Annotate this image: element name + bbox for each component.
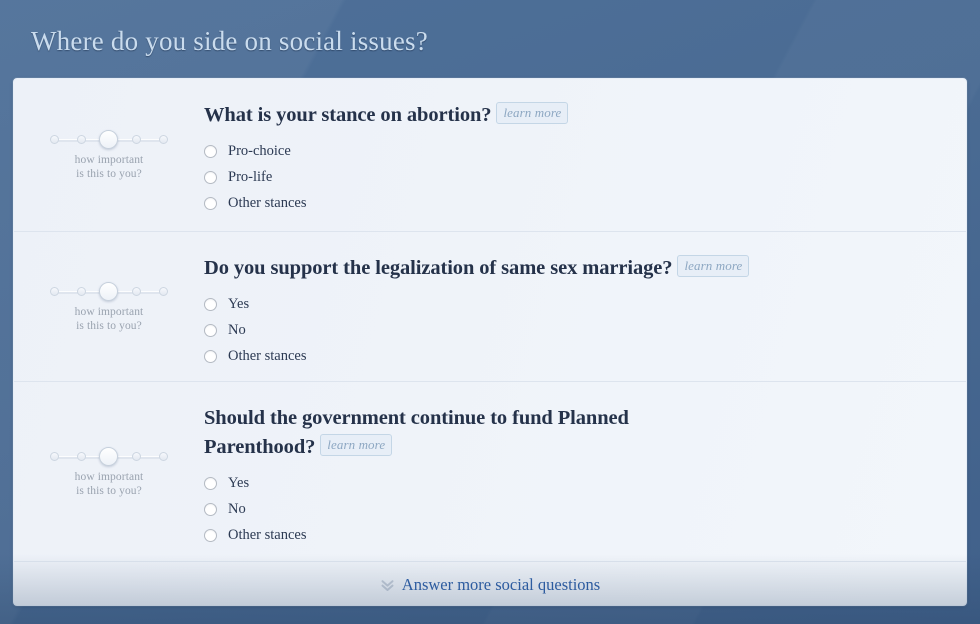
learn-more-badge[interactable]: learn more [320, 434, 392, 456]
choice-label: Pro-choice [228, 142, 291, 160]
importance-label: how important is this to you? [14, 153, 204, 181]
choice-label: Pro-life [228, 168, 272, 186]
question-title: Should the government continue to fund P… [204, 404, 734, 462]
choice-option[interactable]: Other stances [204, 190, 936, 216]
importance-label-line2: is this to you? [14, 484, 204, 498]
slider-step-5[interactable] [159, 452, 168, 461]
choice-label: No [228, 321, 246, 339]
importance-slider-group: how important is this to you? [14, 446, 204, 498]
page-background: Where do you side on social issues? how … [0, 0, 980, 624]
choice-option[interactable]: Other stances [204, 522, 936, 548]
radio-icon[interactable] [204, 503, 217, 516]
radio-icon[interactable] [204, 171, 217, 184]
importance-label-line2: is this to you? [14, 319, 204, 333]
double-chevron-down-icon [380, 578, 395, 593]
importance-label: how important is this to you? [14, 470, 204, 498]
radio-icon[interactable] [204, 197, 217, 210]
choice-list: Yes No Other stances [204, 291, 936, 369]
choice-option[interactable]: No [204, 496, 936, 522]
importance-label-line1: how important [14, 305, 204, 319]
choice-label: Yes [228, 295, 249, 313]
importance-slider[interactable] [50, 448, 168, 466]
choice-option[interactable]: Yes [204, 470, 936, 496]
question-title: What is your stance on abortion?learn mo… [204, 101, 936, 130]
question-content: Should the government continue to fund P… [204, 382, 966, 548]
page-title: Where do you side on social issues? [31, 22, 428, 60]
importance-label-line1: how important [14, 470, 204, 484]
importance-label-line2: is this to you? [14, 167, 204, 181]
slider-step-4[interactable] [132, 135, 141, 144]
choice-option[interactable]: Yes [204, 291, 936, 317]
slider-step-4[interactable] [132, 287, 141, 296]
choice-option[interactable]: No [204, 317, 936, 343]
slider-handle-selected[interactable] [99, 447, 118, 466]
question-block: how important is this to you? What is yo… [14, 79, 966, 231]
card-footer: Answer more social questions [14, 561, 966, 606]
question-title-text: What is your stance on abortion? [204, 104, 491, 126]
slider-handle-selected[interactable] [99, 130, 118, 149]
choice-option[interactable]: Pro-choice [204, 138, 936, 164]
question-title-text: Should the government continue to fund P… [204, 407, 629, 458]
choice-list: Yes No Other stances [204, 470, 936, 548]
choice-option[interactable]: Other stances [204, 343, 936, 369]
choice-label: Other stances [228, 526, 307, 544]
choice-label: Yes [228, 474, 249, 492]
importance-slider[interactable] [50, 283, 168, 301]
radio-icon[interactable] [204, 298, 217, 311]
question-title-text: Do you support the legalization of same … [204, 257, 672, 279]
slider-step-1[interactable] [50, 287, 59, 296]
slider-step-5[interactable] [159, 135, 168, 144]
learn-more-badge[interactable]: learn more [496, 102, 568, 124]
answer-more-questions-label: Answer more social questions [402, 575, 600, 595]
radio-icon[interactable] [204, 350, 217, 363]
question-title: Do you support the legalization of same … [204, 254, 936, 283]
question-content: Do you support the legalization of same … [204, 232, 966, 369]
choice-option[interactable]: Pro-life [204, 164, 936, 190]
importance-slider[interactable] [50, 131, 168, 149]
importance-slider-group: how important is this to you? [14, 129, 204, 181]
learn-more-badge[interactable]: learn more [677, 255, 749, 277]
slider-step-5[interactable] [159, 287, 168, 296]
choice-label: Other stances [228, 194, 307, 212]
importance-label: how important is this to you? [14, 305, 204, 333]
question-block: how important is this to you? Should the… [14, 381, 966, 561]
radio-icon[interactable] [204, 145, 217, 158]
slider-step-1[interactable] [50, 135, 59, 144]
importance-slider-group: how important is this to you? [14, 281, 204, 333]
radio-icon[interactable] [204, 529, 217, 542]
slider-step-2[interactable] [77, 135, 86, 144]
slider-step-1[interactable] [50, 452, 59, 461]
radio-icon[interactable] [204, 477, 217, 490]
questions-card: how important is this to you? What is yo… [13, 78, 967, 606]
answer-more-questions-link[interactable]: Answer more social questions [380, 575, 600, 595]
choice-list: Pro-choice Pro-life Other stances [204, 138, 936, 216]
slider-step-4[interactable] [132, 452, 141, 461]
choice-label: No [228, 500, 246, 518]
importance-label-line1: how important [14, 153, 204, 167]
question-block: how important is this to you? Do you sup… [14, 231, 966, 381]
radio-icon[interactable] [204, 324, 217, 337]
slider-step-2[interactable] [77, 287, 86, 296]
choice-label: Other stances [228, 347, 307, 365]
slider-handle-selected[interactable] [99, 282, 118, 301]
question-content: What is your stance on abortion?learn mo… [204, 79, 966, 216]
slider-step-2[interactable] [77, 452, 86, 461]
